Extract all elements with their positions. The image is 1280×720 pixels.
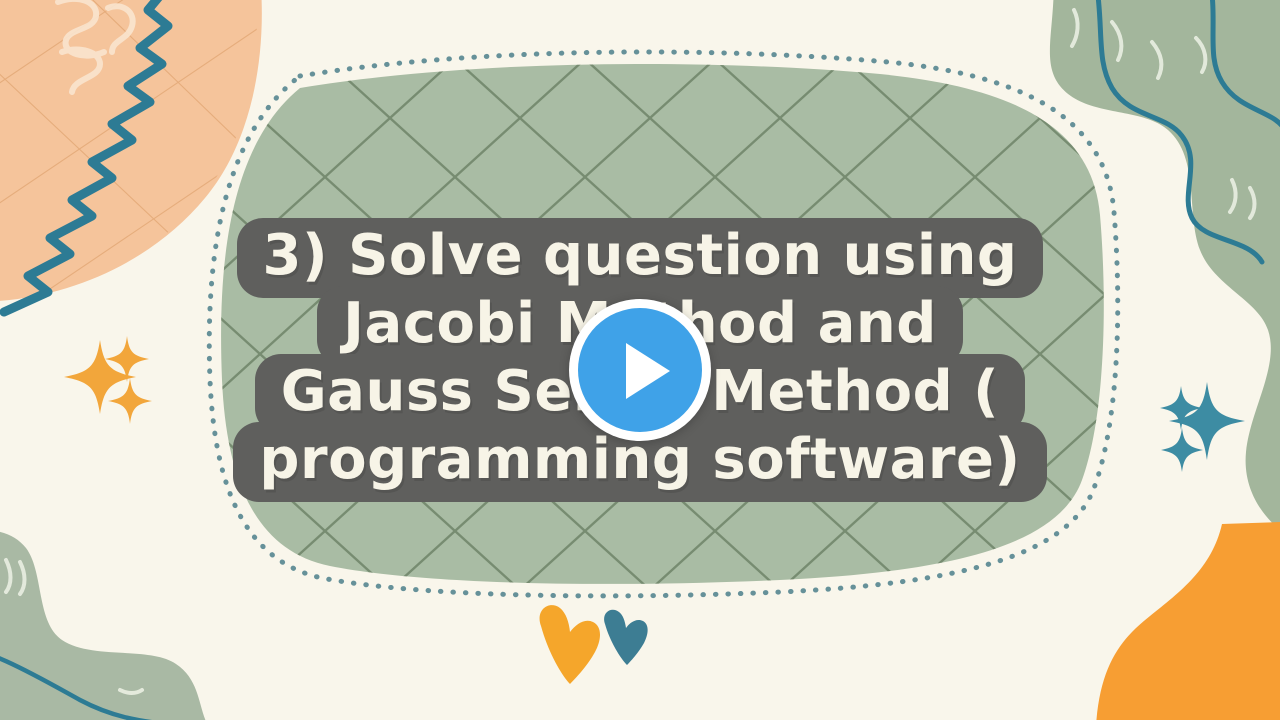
video-slide: 3) Solve question using Jacobi Method an…: [0, 0, 1280, 720]
play-button[interactable]: [569, 299, 711, 441]
play-triangle-icon: [626, 343, 670, 399]
text-line-wrap-4: programming software): [0, 434, 1280, 502]
